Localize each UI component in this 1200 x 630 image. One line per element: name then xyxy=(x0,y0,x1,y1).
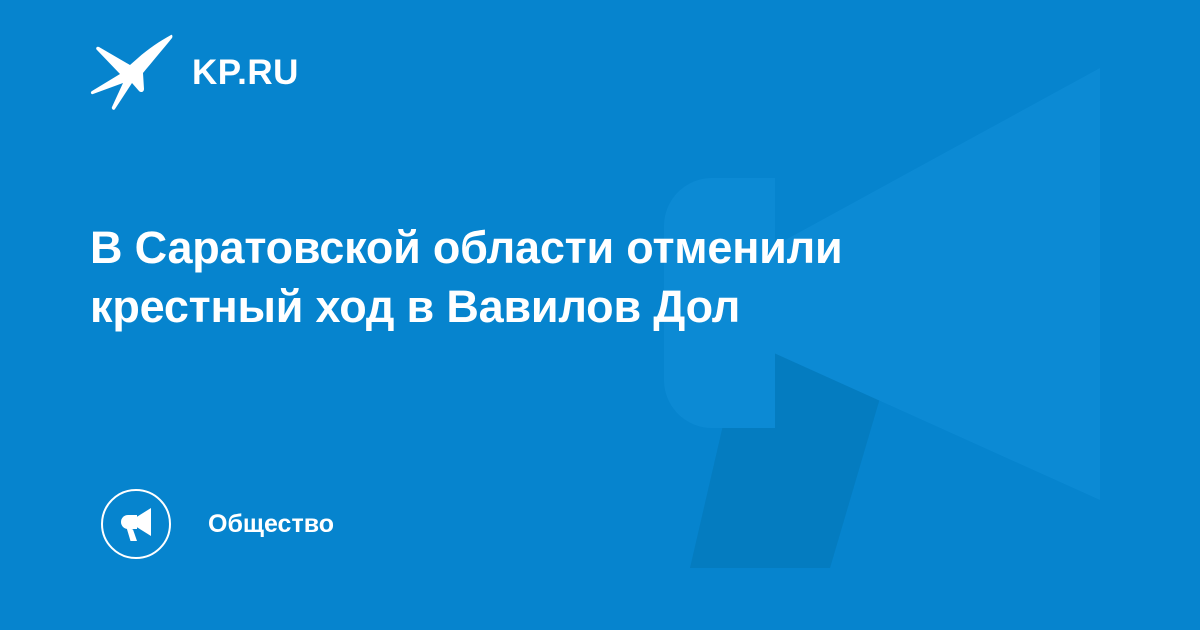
article-share-card: KP.RU В Саратовской области отменили кре… xyxy=(0,0,1200,630)
swallow-bird-icon xyxy=(90,33,174,111)
category-label: Общество xyxy=(208,512,334,537)
brand-logo-block[interactable]: KP.RU xyxy=(90,32,299,112)
category-icon-circle xyxy=(101,489,171,559)
category-badge[interactable]: Общество xyxy=(101,489,334,559)
page-title-line-1: В Саратовской области отменили xyxy=(90,218,1090,277)
brand-name: KP.RU xyxy=(192,55,299,90)
megaphone-icon xyxy=(117,505,155,543)
page-title: В Саратовской области отменили крестный … xyxy=(90,218,1090,337)
page-title-line-2: крестный ход в Вавилов Дол xyxy=(90,277,1090,336)
watermark-handle xyxy=(690,330,900,568)
